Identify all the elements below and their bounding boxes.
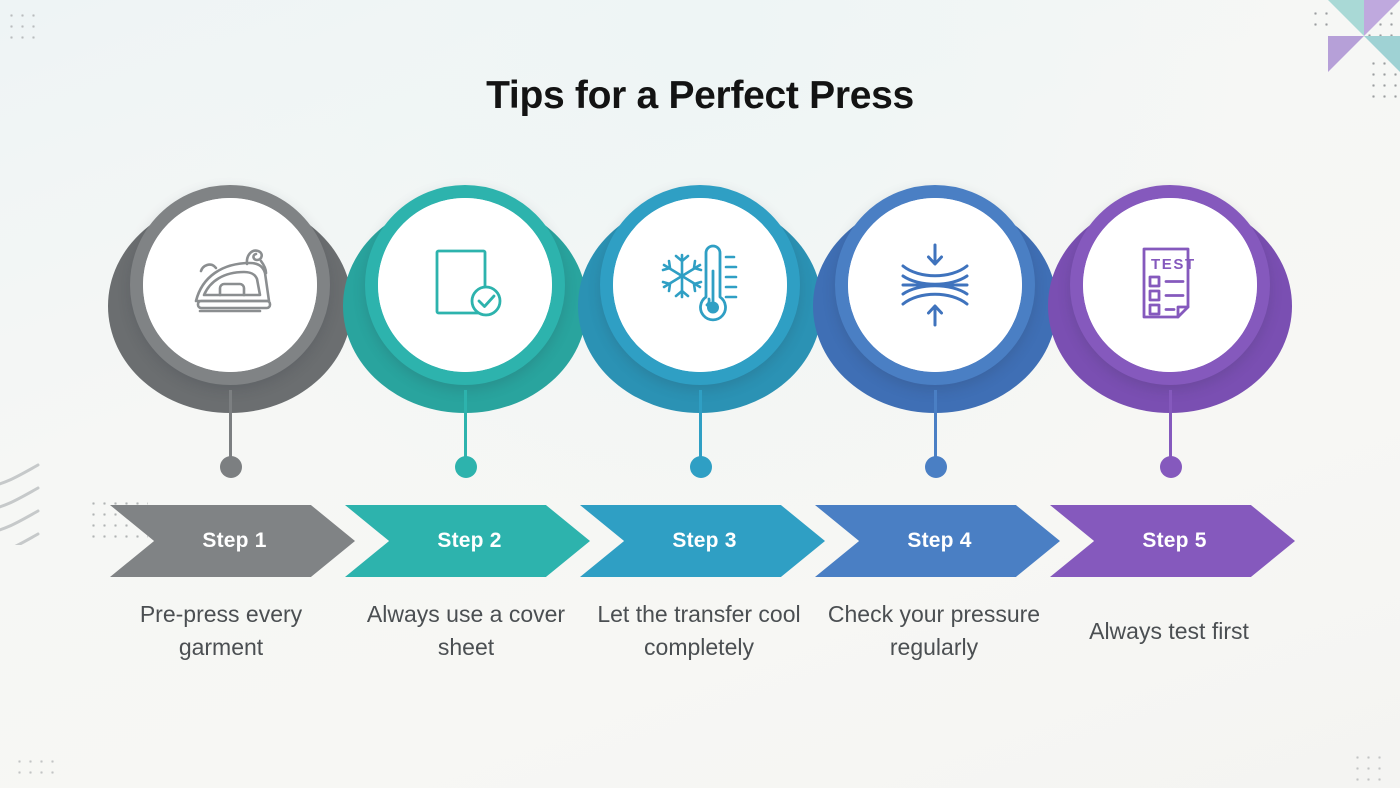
step-caption-1: Pre-press every garment bbox=[110, 598, 332, 664]
step-node-1[interactable] bbox=[120, 185, 340, 390]
dot-grid-bottom-right bbox=[1352, 752, 1388, 782]
step-caption-2: Always use a cover sheet bbox=[355, 598, 577, 664]
infographic-canvas: Tips for a Perfect Press bbox=[0, 0, 1400, 788]
step-arrow-5[interactable]: Step 5 bbox=[1050, 505, 1295, 577]
connector-stem-5 bbox=[1169, 390, 1172, 462]
step-node-2[interactable] bbox=[355, 185, 575, 390]
triangle-purple-top-right-lower bbox=[1328, 36, 1364, 72]
connector-dot-3 bbox=[690, 456, 712, 478]
step-circle-2 bbox=[365, 185, 565, 385]
step-arrow-label-4: Step 4 bbox=[907, 529, 971, 553]
connector-dot-2 bbox=[455, 456, 477, 478]
connector-dot-1 bbox=[220, 456, 242, 478]
step-arrow-4[interactable]: Step 4 bbox=[815, 505, 1060, 577]
step-circle-3 bbox=[600, 185, 800, 385]
step-arrow-2[interactable]: Step 2 bbox=[345, 505, 590, 577]
step-circle-1 bbox=[130, 185, 330, 385]
step-arrows-row: Step 1 Step 2 Step 3 Step 4 Step 5 bbox=[0, 505, 1400, 577]
pressure-arrows-icon bbox=[885, 235, 985, 335]
step-caption-5: Always test first bbox=[1058, 615, 1280, 648]
step-node-5[interactable]: TEST bbox=[1060, 185, 1280, 390]
step-arrow-label-3: Step 3 bbox=[672, 529, 736, 553]
step-arrow-label-2: Step 2 bbox=[437, 529, 501, 553]
step-arrow-label-1: Step 1 bbox=[202, 529, 266, 553]
step-arrow-label-5: Step 5 bbox=[1142, 529, 1206, 553]
connector-stem-2 bbox=[464, 390, 467, 462]
step-icons-row: TEST bbox=[0, 185, 1400, 395]
step-caption-3: Let the transfer cool completely bbox=[588, 598, 810, 664]
dot-grid-bottom-left bbox=[14, 756, 62, 782]
thermometer-snowflake-icon bbox=[650, 235, 750, 335]
connector-stem-4 bbox=[934, 390, 937, 462]
step-node-3[interactable] bbox=[590, 185, 810, 390]
connector-stem-3 bbox=[699, 390, 702, 462]
dot-grid-top-right-2 bbox=[1364, 8, 1400, 44]
triangle-teal-top-right-lower bbox=[1364, 36, 1400, 72]
test-checklist-icon: TEST bbox=[1122, 237, 1218, 333]
page-title: Tips for a Perfect Press bbox=[0, 74, 1400, 118]
cover-sheet-check-icon bbox=[417, 237, 513, 333]
step-arrow-3[interactable]: Step 3 bbox=[580, 505, 825, 577]
step-circle-4 bbox=[835, 185, 1035, 385]
triangle-purple-top-right-upper bbox=[1364, 0, 1400, 36]
dot-grid-top-right bbox=[1310, 8, 1336, 34]
svg-text:TEST: TEST bbox=[1151, 256, 1196, 273]
connector-dot-4 bbox=[925, 456, 947, 478]
triangle-teal-top-right bbox=[1328, 0, 1364, 36]
step-caption-4: Check your pressure regularly bbox=[823, 598, 1045, 664]
step-arrow-1[interactable]: Step 1 bbox=[110, 505, 355, 577]
connector-dot-5 bbox=[1160, 456, 1182, 478]
step-circle-5: TEST bbox=[1070, 185, 1270, 385]
connector-stem-1 bbox=[229, 390, 232, 462]
step-node-4[interactable] bbox=[825, 185, 1045, 390]
dot-grid-top-left bbox=[6, 10, 42, 46]
clothes-iron-icon bbox=[178, 233, 282, 337]
